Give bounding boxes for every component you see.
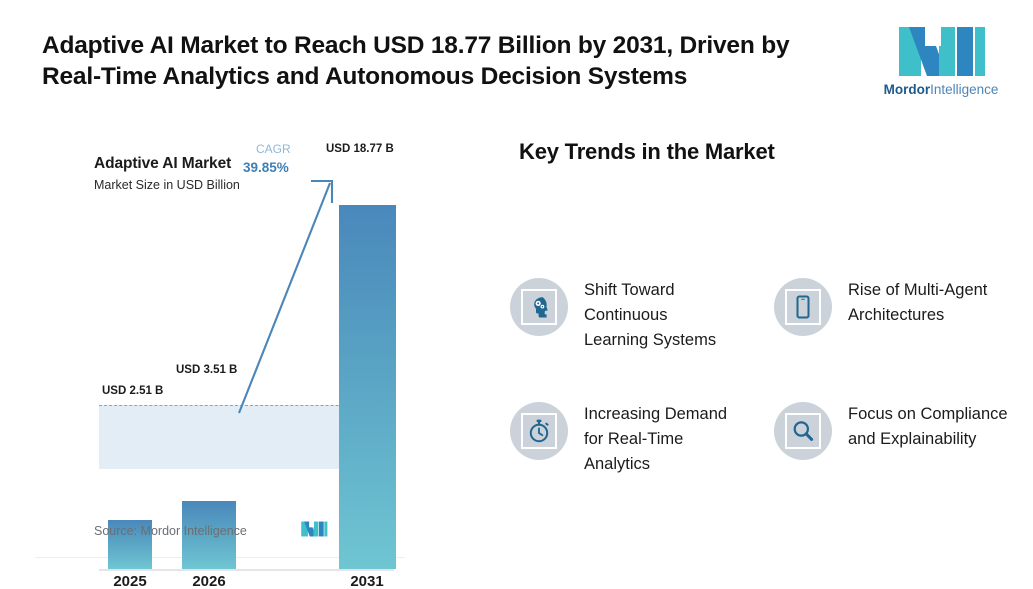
chart-subtitle: Market Size in USD Billion	[94, 178, 240, 192]
icon-frame	[521, 413, 557, 449]
x-tick-2031: 2031	[327, 573, 407, 589]
growth-arrow-icon	[229, 163, 349, 418]
icon-frame	[785, 289, 821, 325]
logo-word-bold: Mordor	[884, 82, 931, 97]
chart-card: Adaptive AI Market Market Size in USD Bi…	[35, 130, 405, 558]
icon-frame	[521, 289, 557, 325]
bar-value-label-2025: USD 2.51 B	[102, 385, 163, 397]
x-tick-2026: 2026	[169, 573, 249, 589]
logo-wordmark: MordorIntelligence	[871, 82, 1011, 97]
source-logo-mark	[300, 520, 328, 538]
mordor-logo-mark	[895, 24, 987, 79]
stopwatch-icon	[526, 418, 552, 444]
trend-item-multi-agent: Rise of Multi-Agent Architectures	[774, 278, 1014, 336]
chart-source: Source: Mordor Intelligence	[94, 524, 247, 538]
magnifier-icon	[790, 418, 816, 444]
cagr-label: CAGR	[256, 142, 291, 156]
trend-icon-circle	[510, 278, 568, 336]
trend-item-real-time-analytics: Increasing Demand for Real-Time Analytic…	[510, 402, 740, 477]
trend-icon-circle	[774, 278, 832, 336]
head-with-gears-icon	[526, 294, 552, 320]
trend-label: Shift Toward Continuous Learning Systems	[584, 278, 734, 353]
x-tick-2025: 2025	[90, 573, 170, 589]
trend-label: Focus on Compliance and Explainability	[848, 402, 1023, 452]
trend-item-compliance: Focus on Compliance and Explainability	[774, 402, 1024, 460]
x-axis-line	[99, 569, 394, 571]
icon-frame	[785, 413, 821, 449]
smartphone-icon	[790, 294, 816, 320]
trend-label: Rise of Multi-Agent Architectures	[848, 278, 1014, 328]
infographic-root: Adaptive AI Market to Reach USD 18.77 Bi…	[0, 0, 1033, 589]
bar-chart-plot: USD 2.51 B USD 3.51 B USD 18.77 B CAGR 3…	[94, 205, 394, 495]
bar-value-label-2031: USD 18.77 B	[326, 143, 394, 155]
trend-icon-circle	[510, 402, 568, 460]
trend-item-continuous-learning: Shift Toward Continuous Learning Systems	[510, 278, 740, 353]
logo-word-light: Intelligence	[930, 82, 998, 97]
page-title: Adaptive AI Market to Reach USD 18.77 Bi…	[42, 30, 842, 92]
trend-icon-circle	[774, 402, 832, 460]
mordor-intelligence-logo: MordorIntelligence	[871, 24, 1011, 102]
chart-title: Adaptive AI Market	[94, 155, 231, 173]
trend-label: Increasing Demand for Real-Time Analytic…	[584, 402, 734, 477]
trends-heading: Key Trends in the Market	[519, 139, 775, 165]
